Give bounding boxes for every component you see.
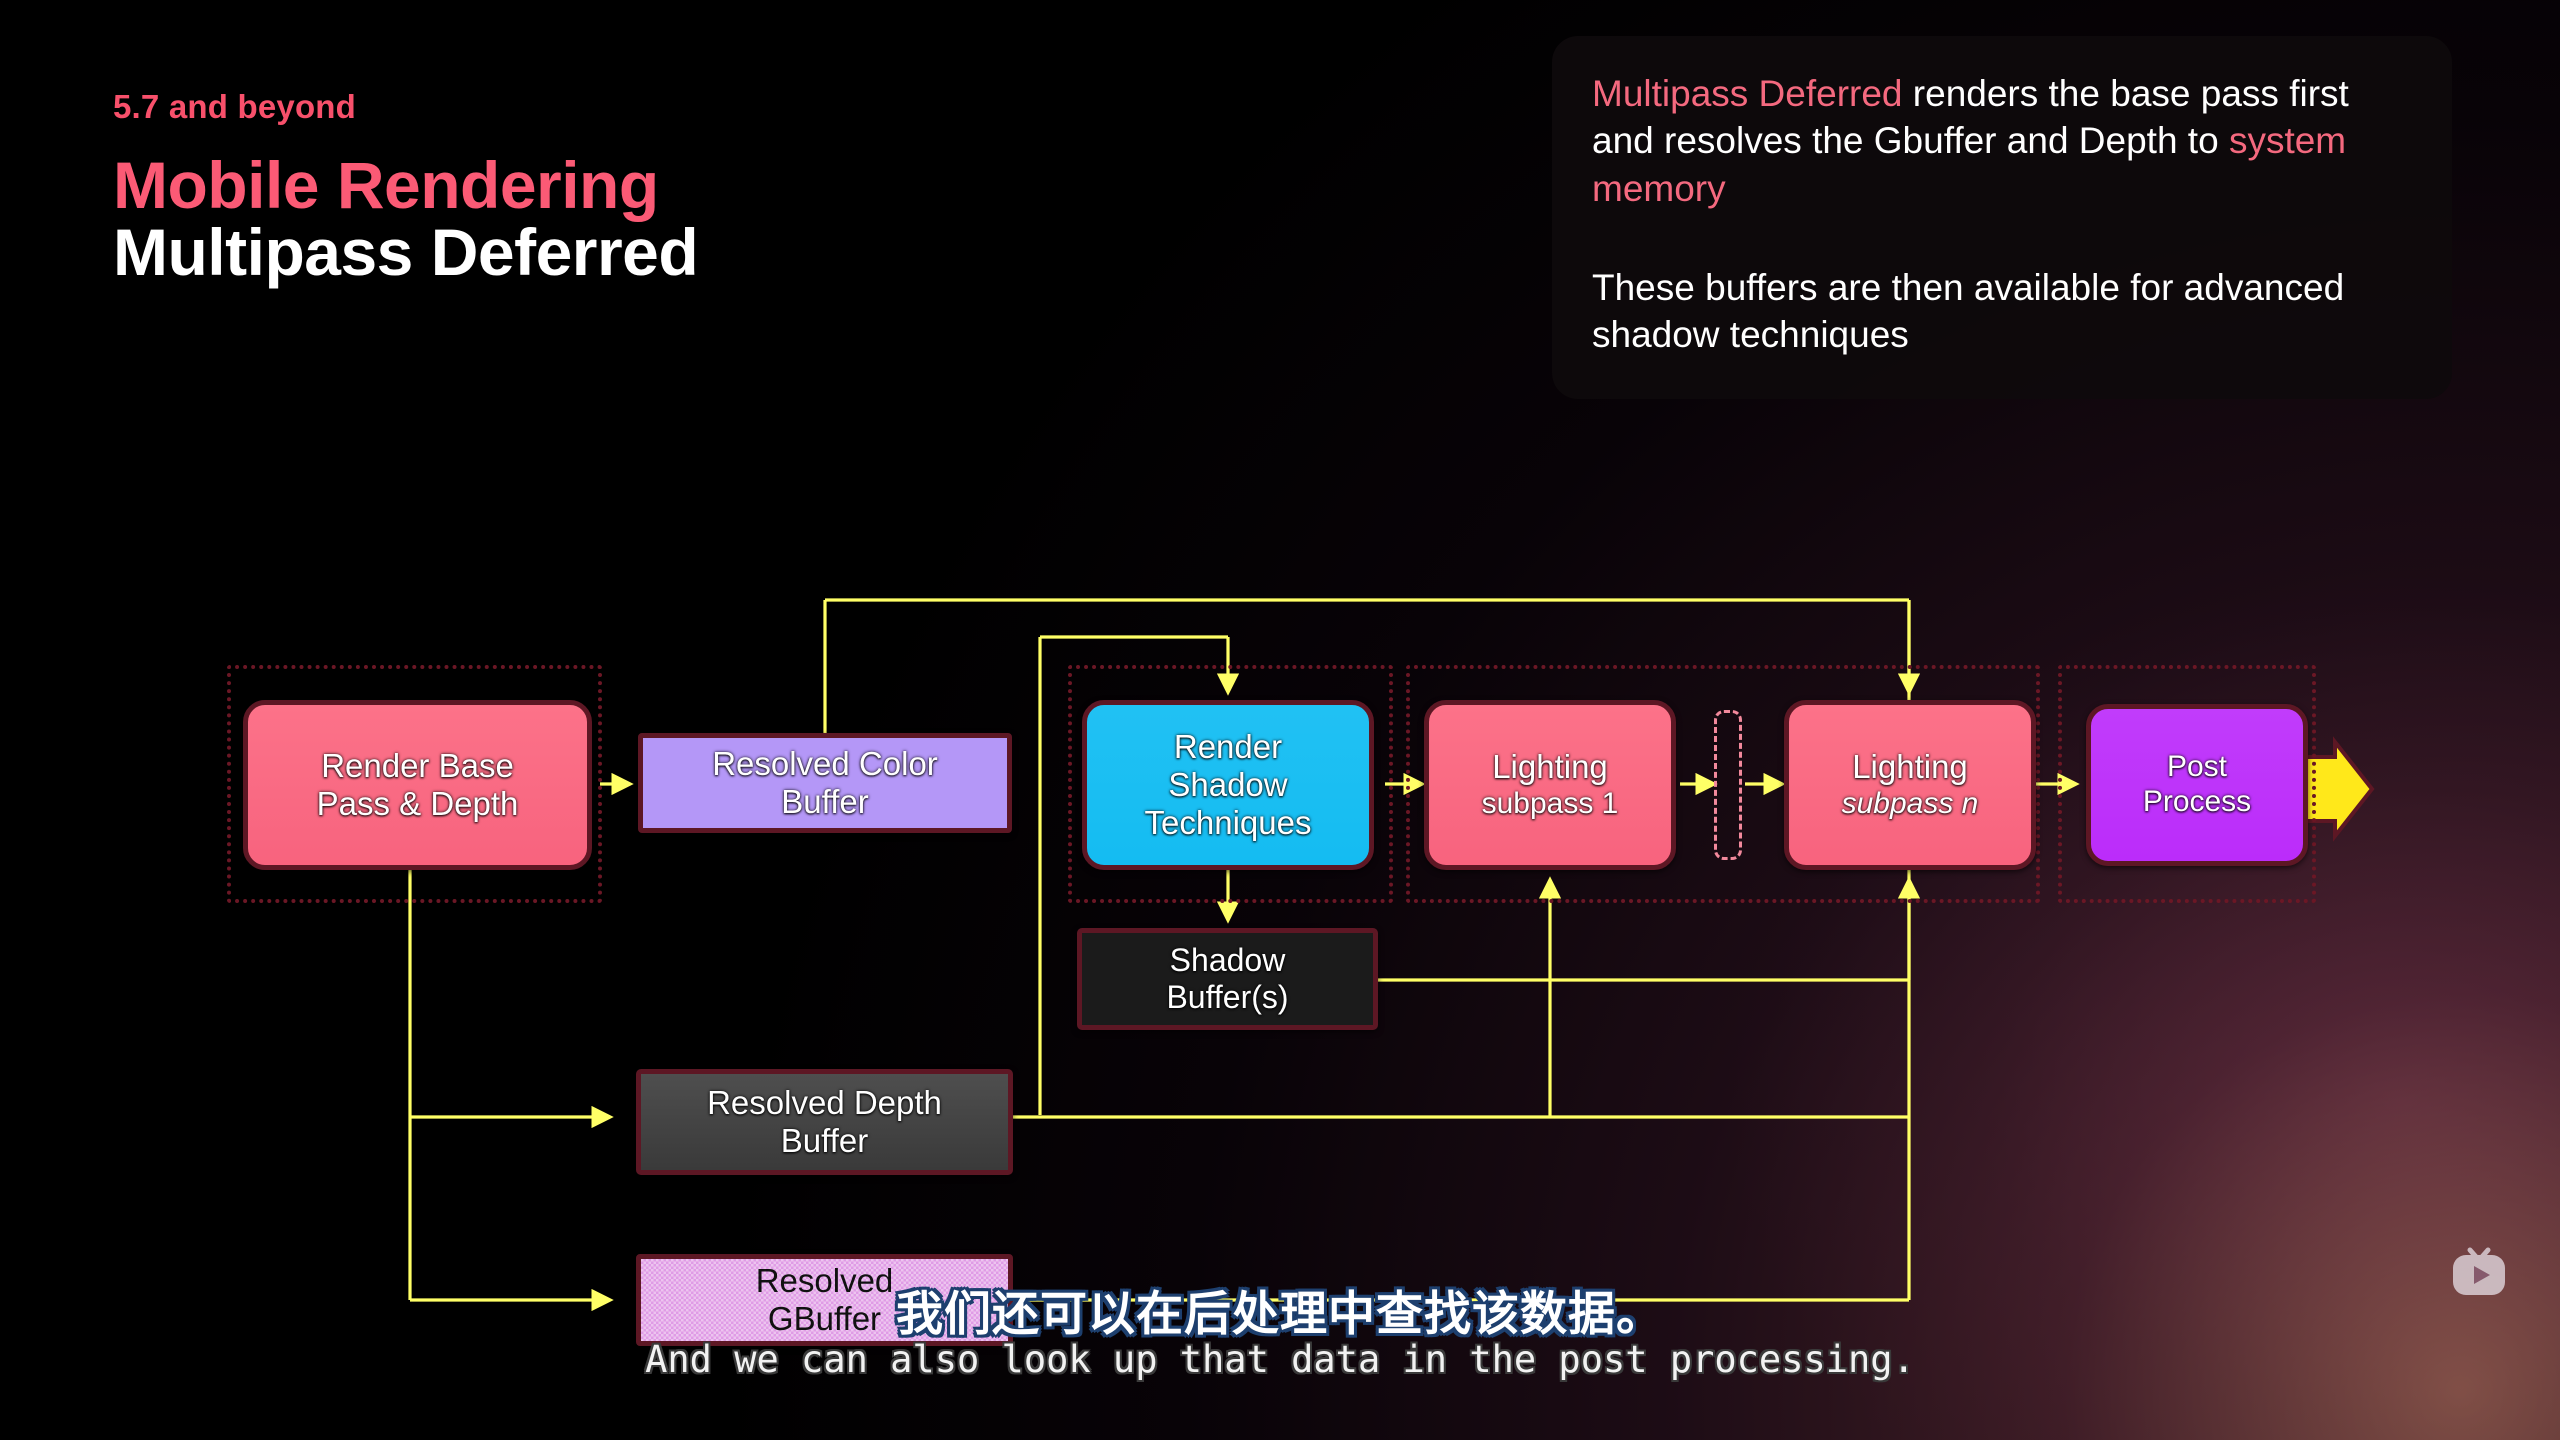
lighting-subpass-ellipsis-placeholder <box>1714 710 1742 860</box>
node-shadow-buffers[interactable]: Shadow Buffer(s) <box>1077 928 1378 1030</box>
node-resolved-color-buffer-label: Resolved Color Buffer <box>712 745 938 822</box>
node-post-process-label: Post Process <box>2143 750 2251 820</box>
node-render-base-pass[interactable]: Render Base Pass & Depth <box>243 700 592 870</box>
tv-play-icon <box>2447 1238 2511 1298</box>
node-post-process[interactable]: Post Process <box>2086 704 2308 866</box>
subtitle-chinese: 我们还可以在后处理中查找该数据。 <box>0 1275 2560 1344</box>
subtitle-english: And we can also look up that data in the… <box>0 1338 2560 1381</box>
node-lighting-subpass-n[interactable]: Lighting subpass n <box>1784 700 2036 870</box>
node-render-shadow-techniques[interactable]: Render Shadow Techniques <box>1082 700 1374 870</box>
node-lighting-subpass-n-group: Lighting subpass n <box>1842 748 1979 821</box>
node-lighting-subpass-n-sub: subpass n <box>1842 787 1979 822</box>
node-resolved-depth-buffer-label: Resolved Depth Buffer <box>707 1084 942 1161</box>
node-lighting-subpass-1-title: Lighting <box>1492 748 1608 785</box>
node-render-shadow-techniques-label: Render Shadow Techniques <box>1145 728 1312 843</box>
node-lighting-subpass-1[interactable]: Lighting subpass 1 <box>1424 700 1676 870</box>
node-render-base-pass-label: Render Base Pass & Depth <box>317 747 519 824</box>
node-shadow-buffers-label: Shadow Buffer(s) <box>1166 942 1288 1016</box>
pipeline-diagram: Render Base Pass & Depth Resolved Color … <box>0 0 2560 1440</box>
node-lighting-subpass-1-sub: subpass 1 <box>1482 787 1619 822</box>
node-resolved-depth-buffer[interactable]: Resolved Depth Buffer <box>636 1069 1013 1175</box>
node-lighting-subpass-n-title: Lighting <box>1852 748 1968 785</box>
node-resolved-color-buffer[interactable]: Resolved Color Buffer <box>638 733 1012 833</box>
node-lighting-subpass-1-group: Lighting subpass 1 <box>1482 748 1619 821</box>
